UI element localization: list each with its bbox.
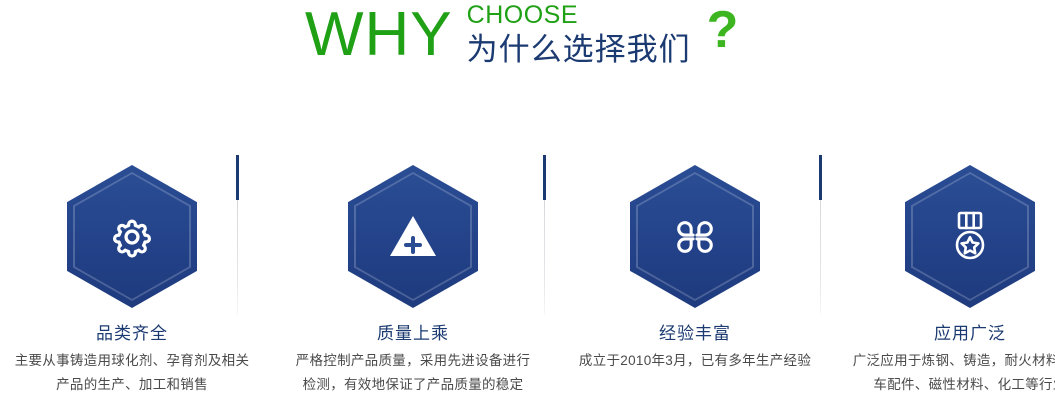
clover-icon: [630, 165, 760, 308]
heading-inner: WHY CHOOSE 为什么选择我们 ?: [305, 0, 738, 70]
feature-card-3[interactable]: 经验丰富 成立于2010年3月，已有多年生产经验: [563, 155, 827, 373]
card-title: 品类齐全: [0, 323, 264, 345]
question-mark-icon: ?: [707, 2, 739, 70]
feature-card-2[interactable]: 质量上乘 严格控制产品质量，采用先进设备进行检测，有效地保证了产品质量的稳定: [281, 155, 545, 397]
medal-icon: [905, 165, 1035, 308]
card-title: 质量上乘: [281, 323, 545, 345]
heading-choose: CHOOSE: [467, 2, 691, 28]
heading-chinese-subtitle: 为什么选择我们: [467, 31, 691, 69]
hexagon-badge: [348, 165, 478, 308]
heading-middle-column: CHOOSE 为什么选择我们: [467, 0, 691, 69]
hexagon-badge: [67, 165, 197, 308]
card-title: 经验丰富: [563, 323, 827, 345]
heading-why: WHY: [305, 0, 453, 70]
triangle-plus-icon: [348, 165, 478, 308]
card-description: 广泛应用于炼钢、铸造，耐火材料、汽车配件、磁性材料、化工等行业: [838, 349, 1055, 397]
card-description: 严格控制产品质量，采用先进设备进行检测，有效地保证了产品质量的稳定: [281, 349, 545, 397]
gear-icon: [67, 165, 197, 308]
hexagon-badge: [905, 165, 1035, 308]
page-heading: WHY CHOOSE 为什么选择我们 ?: [0, 0, 1055, 95]
hexagon-badge: [630, 165, 760, 308]
feature-card-4[interactable]: 应用广泛 广泛应用于炼钢、铸造，耐火材料、汽车配件、磁性材料、化工等行业: [838, 155, 1055, 397]
card-title: 应用广泛: [838, 323, 1055, 345]
card-description: 主要从事铸造用球化剂、孕育剂及相关产品的生产、加工和销售: [0, 349, 264, 397]
feature-card-1[interactable]: 品类齐全 主要从事铸造用球化剂、孕育剂及相关产品的生产、加工和销售: [0, 155, 264, 397]
feature-cards: 品类齐全 主要从事铸造用球化剂、孕育剂及相关产品的生产、加工和销售 质量上乘 严…: [0, 155, 1055, 416]
card-description: 成立于2010年3月，已有多年生产经验: [563, 349, 827, 373]
